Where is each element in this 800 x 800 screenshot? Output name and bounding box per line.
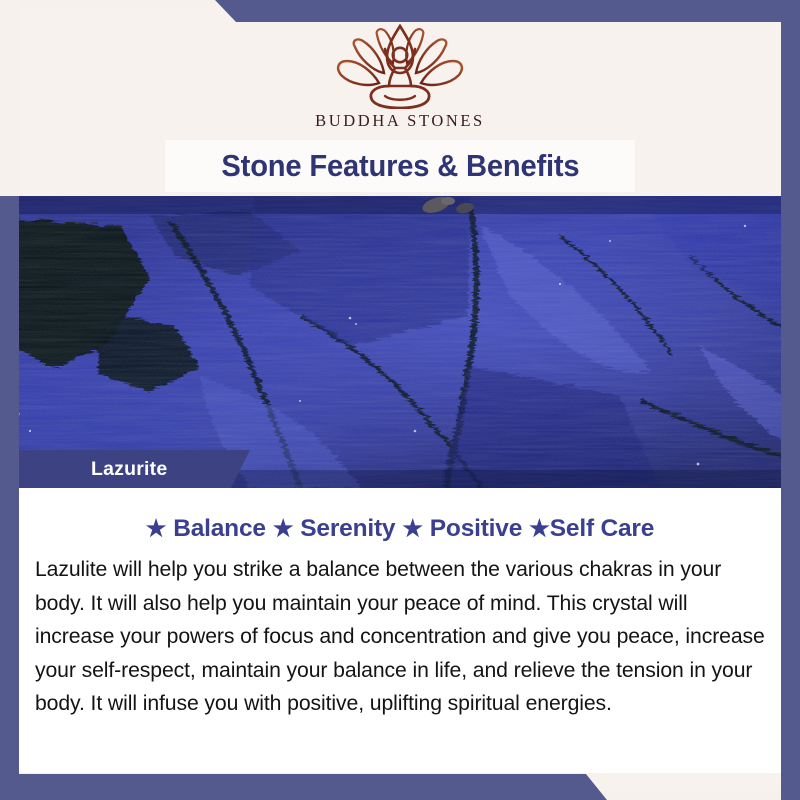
keyword-label-3: Positive	[430, 515, 522, 542]
brand-wordmark: BUDDHA STONES	[315, 111, 485, 131]
page-title: Stone Features & Benefits	[221, 148, 579, 184]
lazurite-stone-photo	[0, 196, 800, 488]
keyword-item-3: ★ Positive	[402, 515, 522, 542]
stone-benefits-infographic: BUDDHA STONES Stone Features & Benefits	[0, 0, 800, 800]
benefits-panel: ★ Balance★ Serenity★ Positive★Self Care …	[19, 488, 781, 773]
star-icon: ★	[402, 515, 423, 541]
stone-name-label: Lazurite	[91, 458, 167, 481]
keyword-item-4: ★Self Care	[529, 515, 654, 542]
star-icon: ★	[146, 515, 167, 541]
keyword-label-2: Serenity	[300, 515, 395, 542]
benefits-description: Lazulite will help you strike a balance …	[35, 553, 769, 721]
frame-right-border	[781, 0, 800, 800]
keyword-label-4: Self Care	[550, 515, 654, 542]
keyword-label-1: Balance	[173, 515, 266, 542]
frame-left-border-mask	[0, 0, 19, 196]
keyword-item-1: ★ Balance	[146, 515, 266, 542]
lotus-meditation-figure-icon	[325, 23, 475, 109]
keyword-list: ★ Balance★ Serenity★ Positive★Self Care	[19, 515, 781, 543]
star-icon: ★	[529, 515, 550, 541]
keyword-item-2: ★ Serenity	[273, 515, 396, 542]
title-banner: Stone Features & Benefits	[165, 140, 635, 192]
stone-name-tag: Lazurite	[19, 450, 250, 488]
star-icon: ★	[273, 515, 294, 541]
brand-header: BUDDHA STONES	[19, 9, 781, 145]
